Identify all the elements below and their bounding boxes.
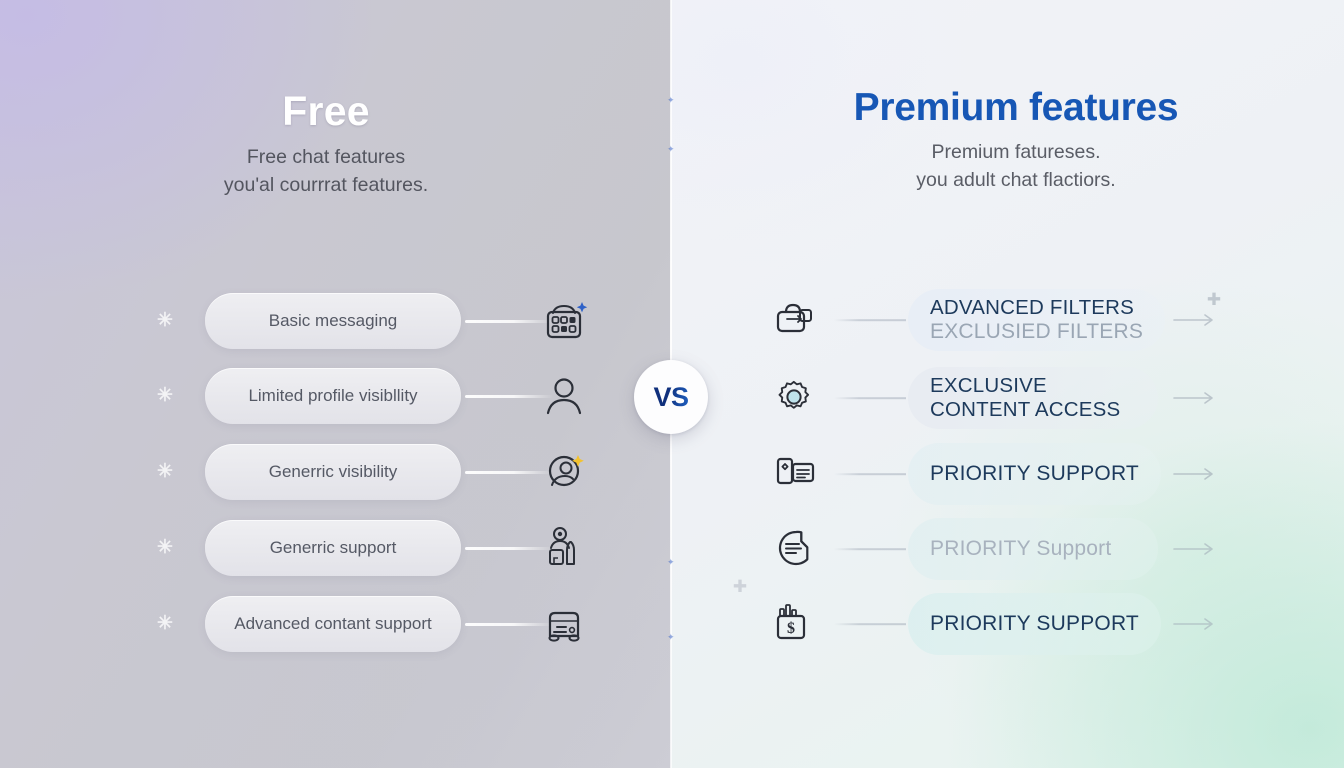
vs-label: VS bbox=[653, 382, 688, 413]
round-document-icon bbox=[772, 525, 820, 573]
comparison-infographic: ✦ ✦ ✦ ✦ ✚ ✚ Free Free chat features you'… bbox=[0, 0, 1344, 768]
free-feature-row[interactable]: ✳ Limited profile visibllity bbox=[155, 368, 595, 424]
free-feature-pill[interactable]: Basic messaging bbox=[205, 293, 461, 349]
free-title: Free bbox=[96, 88, 556, 135]
person-profile-icon bbox=[533, 366, 595, 426]
free-feature-label: Generric support bbox=[270, 538, 397, 558]
arrow-right-icon bbox=[1174, 467, 1222, 481]
vs-badge: VS bbox=[634, 360, 708, 434]
premium-feature-row[interactable]: PRIORITY Support bbox=[772, 518, 1242, 580]
free-feature-row[interactable]: ✳ Generric support bbox=[155, 520, 595, 576]
free-feature-label: Advanced contant support bbox=[234, 614, 432, 634]
sparkle-icon: ✳ bbox=[154, 310, 176, 332]
premium-feature-pill[interactable]: PRIORITY SUPPORT bbox=[908, 593, 1161, 655]
premium-feature-pill[interactable]: EXCLUSIVE CONTENT ACCESS bbox=[908, 367, 1158, 429]
briefcase-bag-icon bbox=[772, 296, 820, 344]
sparkle-icon: ✳ bbox=[154, 461, 176, 483]
premium-feature-pill[interactable]: PRIORITY Support bbox=[908, 518, 1158, 580]
calendar-grid-bag-icon bbox=[533, 291, 595, 351]
connector-line bbox=[834, 548, 906, 550]
premium-title: Premium features bbox=[790, 86, 1242, 130]
premium-feature-label-primary: ADVANCED FILTERS bbox=[930, 296, 1134, 320]
profile-sparkle-icon bbox=[533, 442, 595, 502]
premium-feature-label-secondary: EXCLUSIED FILTERS bbox=[930, 320, 1143, 344]
free-feature-pill[interactable]: Generric support bbox=[205, 520, 461, 576]
premium-subtitle: Premium fatureses. you adult chat flacti… bbox=[790, 139, 1242, 194]
arrow-right-icon bbox=[1174, 391, 1222, 405]
connector-line bbox=[834, 397, 906, 399]
divider-sparkle-icon: ✦ bbox=[667, 97, 674, 104]
money-bag-dollar-icon: $ bbox=[772, 600, 820, 648]
sparkle-icon: ✳ bbox=[154, 385, 176, 407]
premium-feature-label-secondary: CONTENT ACCESS bbox=[930, 398, 1120, 422]
free-subtitle-line2: you'al courrrat features. bbox=[96, 172, 556, 200]
premium-feature-pill[interactable]: PRIORITY SUPPORT bbox=[908, 443, 1161, 505]
arrow-right-icon bbox=[1174, 313, 1222, 327]
premium-header: Premium features Premium fatureses. you … bbox=[790, 86, 1242, 194]
connector-line bbox=[834, 473, 906, 475]
gear-icon bbox=[772, 374, 820, 422]
sparkle-icon: ✳ bbox=[154, 613, 176, 635]
premium-subtitle-line2: you adult chat flactiors. bbox=[790, 167, 1242, 195]
premium-feature-row[interactable]: PRIORITY SUPPORT bbox=[772, 443, 1242, 505]
premium-feature-label-primary: PRIORITY SUPPORT bbox=[930, 462, 1139, 486]
premium-feature-label-primary: PRIORITY SUPPORT bbox=[930, 612, 1139, 636]
divider-sparkle-icon: ✦ bbox=[667, 634, 674, 641]
free-subtitle-line1: Free chat features bbox=[96, 144, 556, 172]
connector-line bbox=[834, 319, 906, 321]
free-header: Free Free chat features you'al courrrat … bbox=[96, 88, 556, 199]
free-subtitle: Free chat features you'al courrrat featu… bbox=[96, 144, 556, 199]
free-feature-label: Limited profile visibllity bbox=[248, 386, 417, 406]
vehicle-box-icon bbox=[533, 594, 595, 654]
card-document-icon bbox=[772, 450, 820, 498]
free-feature-row[interactable]: ✳ Basic messaging bbox=[155, 293, 595, 349]
premium-subtitle-line1: Premium fatureses. bbox=[790, 139, 1242, 167]
free-feature-row[interactable]: ✳ Advanced contant support bbox=[155, 596, 595, 652]
free-feature-pill[interactable]: Generric visibility bbox=[205, 444, 461, 500]
divider-sparkle-icon: ✦ bbox=[667, 559, 674, 566]
premium-feature-row[interactable]: ADVANCED FILTERS EXCLUSIED FILTERS bbox=[772, 289, 1242, 351]
sparkle-icon: ✳ bbox=[154, 537, 176, 559]
premium-feature-row[interactable]: $ PRIORITY SUPPORT bbox=[772, 593, 1242, 655]
premium-feature-label-primary: PRIORITY Support bbox=[930, 537, 1111, 561]
premium-feature-pill[interactable]: ADVANCED FILTERS EXCLUSIED FILTERS bbox=[908, 289, 1165, 351]
free-feature-row[interactable]: ✳ Generric visibility bbox=[155, 444, 595, 500]
free-feature-label: Basic messaging bbox=[269, 311, 398, 331]
free-feature-pill[interactable]: Advanced contant support bbox=[205, 596, 461, 652]
free-feature-pill[interactable]: Limited profile visibllity bbox=[205, 368, 461, 424]
free-feature-label: Generric visibility bbox=[269, 462, 397, 482]
plus-mark-icon: ✚ bbox=[731, 578, 749, 596]
arrow-right-icon bbox=[1174, 617, 1222, 631]
arrow-right-icon bbox=[1174, 542, 1222, 556]
premium-feature-label-primary: EXCLUSIVE bbox=[930, 374, 1047, 398]
person-bottle-icon bbox=[533, 518, 595, 578]
premium-feature-row[interactable]: EXCLUSIVE CONTENT ACCESS bbox=[772, 367, 1242, 429]
svg-text:$: $ bbox=[787, 620, 795, 637]
connector-line bbox=[834, 623, 906, 625]
divider-sparkle-icon: ✦ bbox=[667, 146, 674, 153]
